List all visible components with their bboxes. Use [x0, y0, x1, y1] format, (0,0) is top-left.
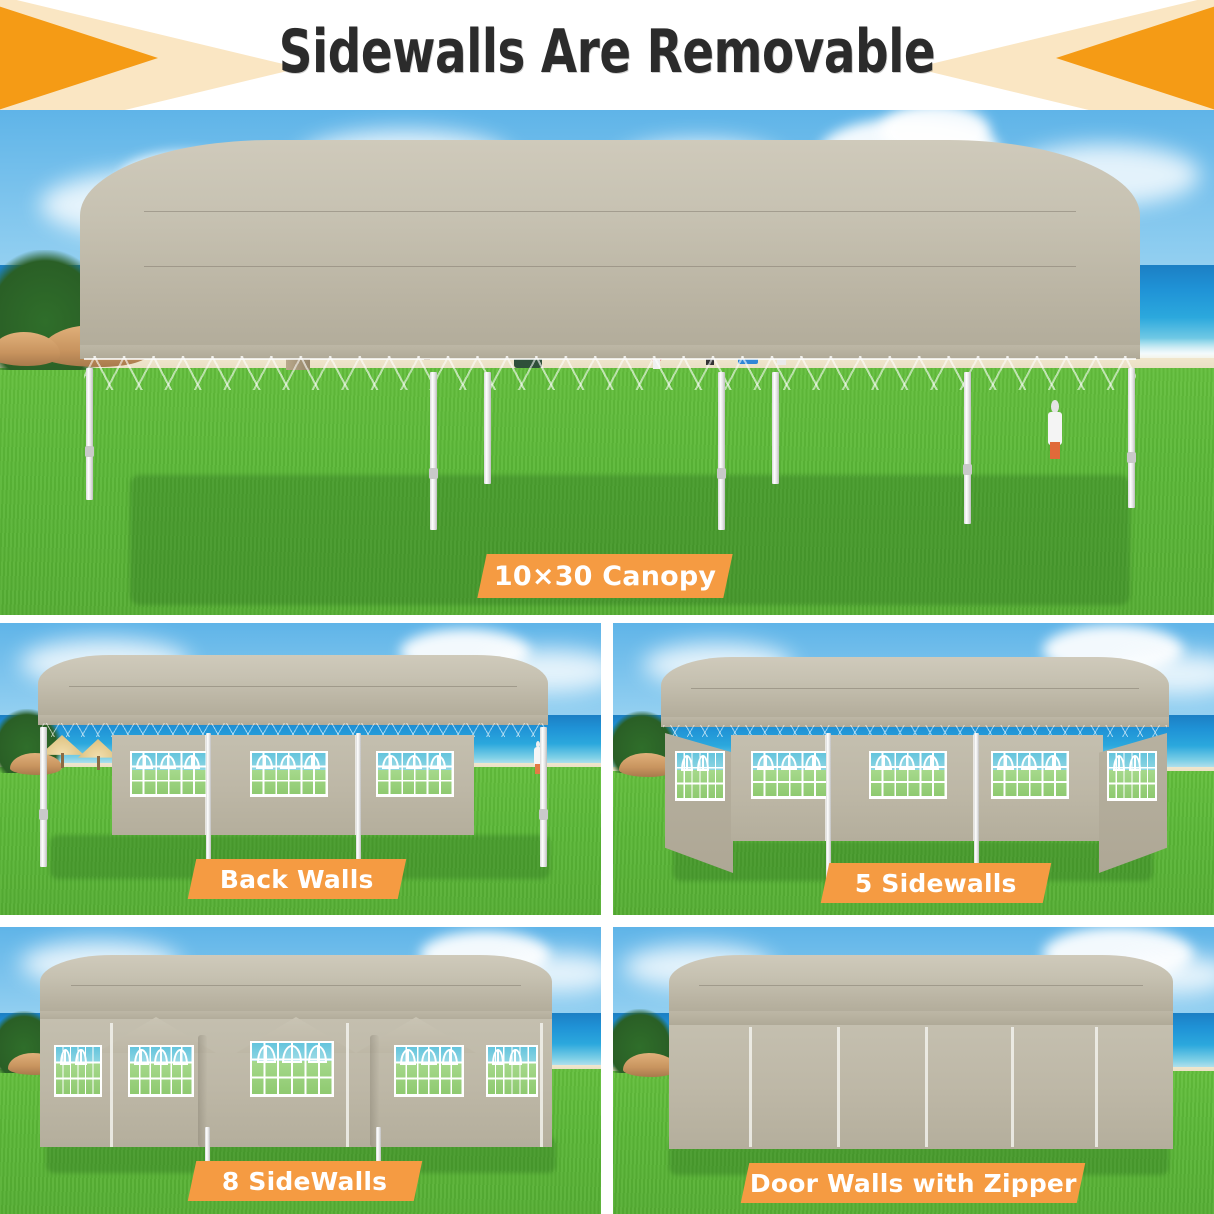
wall-zipper	[749, 1027, 752, 1147]
canopy-leg	[826, 733, 831, 881]
canopy-roof	[661, 657, 1169, 719]
wall-window	[130, 751, 208, 797]
main-canopy-photo: 10×30 Canopy	[0, 110, 1214, 615]
panel-badge-label: 8 SideWalls	[222, 1167, 387, 1196]
canopy-leg	[718, 372, 725, 530]
wall-window	[54, 1045, 102, 1097]
wall-zipper	[1095, 1027, 1098, 1147]
beachgoer	[1046, 400, 1064, 458]
wall-zipper	[1011, 1027, 1014, 1147]
wall-window	[128, 1045, 194, 1097]
wall-zipper	[110, 1023, 113, 1147]
hero-badge: 10×30 Canopy	[477, 554, 732, 598]
canopy-roof	[669, 955, 1173, 1013]
canopy-leg	[40, 727, 47, 867]
canopy-leg	[206, 733, 211, 879]
canopy-leg	[772, 372, 779, 484]
page-title: Sidewalls Are Removable	[134, 0, 1081, 104]
hero-badge-label: 10×30 Canopy	[494, 561, 716, 592]
gutter-vertical	[601, 615, 613, 1214]
panel-badge: 8 SideWalls	[188, 1161, 423, 1201]
canopy-roof	[38, 655, 548, 717]
eight-sidewalls-panel: 8 SideWalls	[0, 927, 601, 1214]
canopy-leg	[86, 368, 93, 500]
panel-badge: Back Walls	[188, 859, 407, 899]
canopy-leg	[430, 372, 437, 530]
canopy-leg	[484, 372, 491, 484]
wall-window	[394, 1045, 464, 1097]
wall-window	[1107, 751, 1157, 801]
wall-zipper	[540, 1023, 543, 1147]
wall-zipper	[346, 1023, 349, 1147]
panel-badge-label: 5 Sidewalls	[855, 869, 1017, 898]
canopy-leg	[540, 727, 547, 867]
header-banner: Sidewalls Are Removable	[0, 0, 1214, 128]
wall-window	[869, 751, 947, 799]
panel-badge: Door Walls with Zipper	[741, 1163, 1086, 1203]
wall-window	[675, 751, 725, 801]
wall-window	[991, 751, 1069, 799]
panel-badge-label: Door Walls with Zipper	[750, 1169, 1077, 1198]
canopy-leg	[974, 733, 979, 881]
door-walls-panel: Door Walls with Zipper	[613, 927, 1214, 1214]
wall-zipper	[925, 1027, 928, 1147]
wall-zipper	[837, 1027, 840, 1147]
canopy-leg	[356, 733, 361, 879]
five-sidewalls-panel: 5 Sidewalls	[613, 623, 1214, 915]
panel-badge-label: Back Walls	[220, 865, 374, 894]
infographic-page: Sidewalls Are Removable	[0, 0, 1214, 1214]
canopy-roof	[40, 955, 552, 1013]
back-walls-panel: Back Walls	[0, 623, 601, 915]
canopy-valance	[669, 1011, 1173, 1025]
panel-badge: 5 Sidewalls	[821, 863, 1052, 903]
wall-window	[250, 751, 328, 797]
wall-window	[250, 1041, 334, 1097]
wall-window	[376, 751, 454, 797]
canopy-truss-frame	[84, 356, 1136, 390]
wall-window	[486, 1045, 538, 1097]
canopy-roof	[80, 140, 1140, 350]
wall-window	[751, 751, 829, 799]
canopy-leg	[964, 372, 971, 524]
canopy-leg	[1128, 368, 1135, 508]
